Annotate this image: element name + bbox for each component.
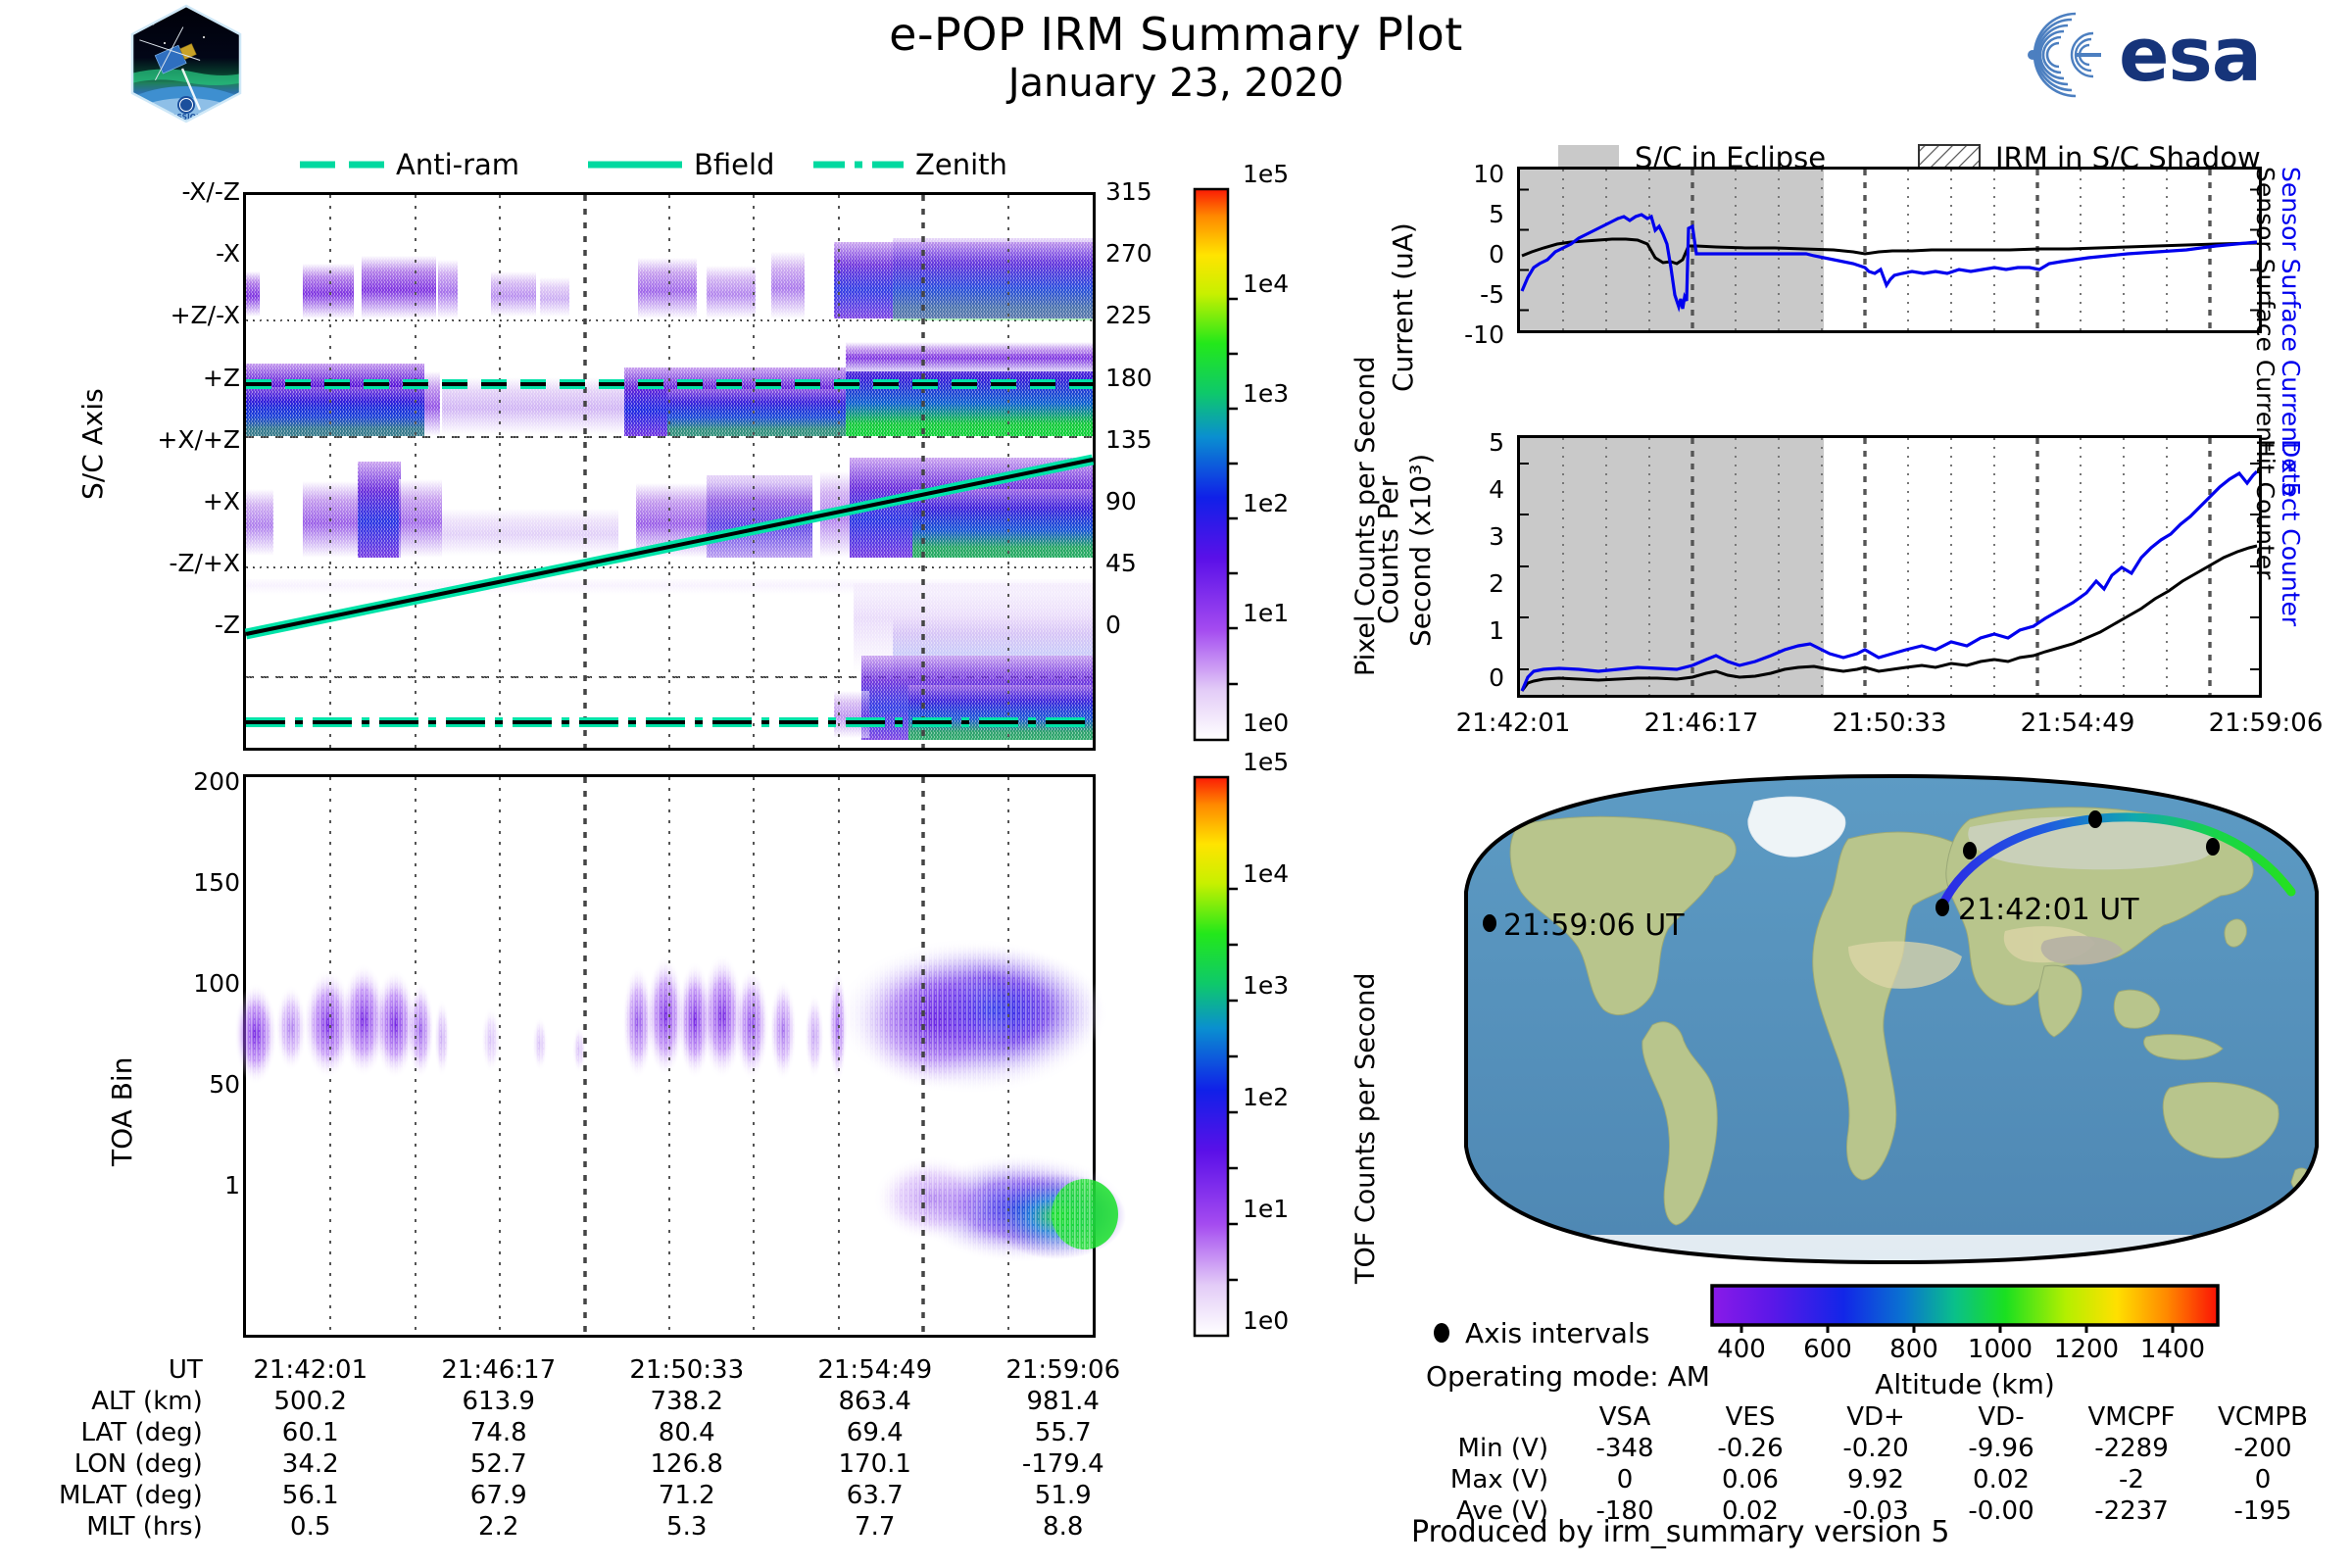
cell: 863.4 <box>781 1386 969 1417</box>
counts-ytick: 2 <box>1489 569 1504 598</box>
cell: 80.4 <box>593 1417 781 1448</box>
cell: 0 <box>2199 1464 2327 1495</box>
angle-ytick: +X <box>203 487 240 515</box>
alt-tick: 1000 <box>1968 1335 2033 1364</box>
table-header-row: VSA VES VD+ VD- VMCPF VCMPB <box>1411 1401 2327 1433</box>
altitude-colorbar-ticks: 400 600 800 1000 1200 1400 <box>1710 1335 2220 1368</box>
cell: -0.20 <box>1813 1433 1938 1464</box>
cb1-tick: 1e2 <box>1243 489 1289 517</box>
panel-toa-ticks: 200 150 100 50 1 <box>108 782 240 1287</box>
current-ytick: 10 <box>1473 160 1504 188</box>
cell: 56.1 <box>217 1480 405 1511</box>
column-header: VD+ <box>1813 1401 1938 1433</box>
panel-angle-left-ticks: -X/-Z -X +Z/-X +Z +X/+Z +X -Z/+X -Z <box>98 192 240 688</box>
row-label: LAT (deg) <box>59 1417 217 1448</box>
cell: 21:50:33 <box>593 1354 781 1386</box>
xtick: 21:50:33 <box>1795 708 1984 739</box>
angle-legend: Anti-ram Bfield Zenith <box>294 145 1000 184</box>
orbit-start-label: 21:42:01 UT <box>1958 893 2139 927</box>
cb2-tick: 1e2 <box>1243 1083 1289 1111</box>
panel-current-plot <box>1517 167 2262 333</box>
cell: 21:46:17 <box>405 1354 593 1386</box>
alt-tick: 1200 <box>2054 1335 2119 1364</box>
cb1-tick: 1e0 <box>1243 709 1289 737</box>
toa-ytick: 1 <box>224 1171 240 1200</box>
orbit-world-map: 21:42:01 UT 21:59:06 UT <box>1460 774 2323 1264</box>
tof-counts-colorbar-label: TOF Counts per Second <box>1350 973 1381 1285</box>
angle-ytick: +Z <box>203 364 240 392</box>
xtick: 21:42:01 <box>1419 708 1607 739</box>
cell: -0.00 <box>1938 1495 2064 1527</box>
angle-right-ytick: 0 <box>1105 611 1121 639</box>
cell: 5.3 <box>593 1511 781 1543</box>
legend-label-zenith: Zenith <box>915 148 1007 181</box>
cell: -2 <box>2064 1464 2199 1495</box>
angle-right-ytick: 135 <box>1105 425 1152 454</box>
panel-counts-yticks: 5 4 3 2 1 0 <box>1411 443 1504 725</box>
current-ytick: 0 <box>1489 240 1504 269</box>
cb2-tick: 1e3 <box>1243 971 1289 1000</box>
cell: 69.4 <box>781 1417 969 1448</box>
operating-mode-label: Operating mode: AM <box>1426 1360 1710 1393</box>
column-header: VD- <box>1938 1401 2064 1433</box>
cell: 21:54:49 <box>781 1354 969 1386</box>
counts-ytick: 0 <box>1489 663 1504 692</box>
cell: -348 <box>1562 1433 1688 1464</box>
cell: -0.26 <box>1688 1433 1813 1464</box>
page-subtitle-date: January 23, 2020 <box>588 61 1764 106</box>
toa-ytick: 150 <box>193 868 240 897</box>
cb2-tick: 1e5 <box>1243 748 1289 776</box>
cell: 34.2 <box>217 1448 405 1480</box>
cell: 67.9 <box>405 1480 593 1511</box>
pixel-counts-colorbar <box>1192 186 1250 745</box>
cell: -179.4 <box>969 1448 1157 1480</box>
cell: 60.1 <box>217 1417 405 1448</box>
row-label: Min (V) <box>1411 1433 1562 1464</box>
angle-right-ytick: 225 <box>1105 301 1152 329</box>
cell: 52.7 <box>405 1448 593 1480</box>
counts-ytick: 3 <box>1489 522 1504 551</box>
cell: 0.02 <box>1938 1464 2064 1495</box>
angle-ytick: -Z/+X <box>169 549 240 577</box>
cell: -2237 <box>2064 1495 2199 1527</box>
alt-tick: 800 <box>1889 1335 1938 1364</box>
xtick: 21:46:17 <box>1607 708 1795 739</box>
legend-label-antiram: Anti-ram <box>396 148 519 181</box>
row-label: ALT (km) <box>59 1386 217 1417</box>
panel-counts-right-label-black: Hit Counter <box>2251 439 2279 579</box>
alt-tick: 1400 <box>2140 1335 2205 1364</box>
legend-label-bfield: Bfield <box>694 148 774 181</box>
alt-tick: 400 <box>1717 1335 1766 1364</box>
ephemeris-table: UT 21:42:01 21:46:17 21:50:33 21:54:49 2… <box>59 1354 1157 1543</box>
panel-counts-plot <box>1517 435 2262 698</box>
table-row: UT 21:42:01 21:46:17 21:50:33 21:54:49 2… <box>59 1354 1157 1386</box>
header-title: e-POP IRM Summary Plot January 23, 2020 <box>588 8 1764 106</box>
cell: 51.9 <box>969 1480 1157 1511</box>
angle-right-ytick: 180 <box>1105 364 1152 392</box>
angle-ytick: -X <box>216 239 240 268</box>
table-row: MLT (hrs) 0.5 2.2 5.3 7.7 8.8 <box>59 1511 1157 1543</box>
angle-right-ytick: 270 <box>1105 239 1152 268</box>
column-header: VSA <box>1562 1401 1688 1433</box>
svg-text:esa: esa <box>2119 11 2261 98</box>
row-label: MLT (hrs) <box>59 1511 217 1543</box>
angle-right-ytick: 90 <box>1105 487 1137 515</box>
cell: 170.1 <box>781 1448 969 1480</box>
angle-ytick: -Z <box>215 611 240 639</box>
cell: 0 <box>1562 1464 1688 1495</box>
angle-right-ytick: 315 <box>1105 177 1152 206</box>
cell: 738.2 <box>593 1386 781 1417</box>
altitude-colorbar-label: Altitude (km) <box>1710 1368 2220 1400</box>
altitude-colorbar <box>1710 1284 2220 1331</box>
xtick: 21:54:49 <box>1984 708 2172 739</box>
counts-ytick: 4 <box>1489 475 1504 504</box>
table-row: ALT (km) 500.2 613.9 738.2 863.4 981.4 <box>59 1386 1157 1417</box>
current-ytick: -10 <box>1464 320 1504 349</box>
panel-current-yticks: 10 5 0 -5 -10 <box>1411 174 1504 375</box>
row-label: MLAT (deg) <box>59 1480 217 1511</box>
eclipse-shading <box>1520 438 1824 695</box>
toa-ytick: 100 <box>193 969 240 998</box>
cell: 981.4 <box>969 1386 1157 1417</box>
cell: 21:59:06 <box>969 1354 1157 1386</box>
panel-angle-spectrogram <box>243 192 1096 751</box>
pixel-counts-colorbar-ticks: 1e5 1e4 1e3 1e2 1e1 1e0 <box>1243 174 1350 833</box>
cassiope-logo: CASSIOPE <box>127 4 245 123</box>
table-row: LAT (deg) 60.1 74.8 80.4 69.4 55.7 <box>59 1417 1157 1448</box>
footer-produced-by: Produced by irm_summary version 5 <box>1411 1515 1949 1549</box>
toa-ytick: 50 <box>209 1070 240 1099</box>
cb1-tick: 1e5 <box>1243 160 1289 188</box>
counts-ylabel-line1: Counts Per <box>1372 476 1404 624</box>
voltage-stats-table: VSA VES VD+ VD- VMCPF VCMPB Min (V) -348… <box>1411 1401 2327 1527</box>
cb2-tick: 1e4 <box>1243 859 1289 888</box>
table-row: MLAT (deg) 56.1 67.9 71.2 63.7 51.9 <box>59 1480 1157 1511</box>
row-label: LON (deg) <box>59 1448 217 1480</box>
column-header: VES <box>1688 1401 1813 1433</box>
table-row: LON (deg) 34.2 52.7 126.8 170.1 -179.4 <box>59 1448 1157 1480</box>
cell: 74.8 <box>405 1417 593 1448</box>
map-marker-legend: Axis intervals <box>1426 1313 1681 1352</box>
cb1-tick: 1e3 <box>1243 379 1289 408</box>
cb2-tick: 1e0 <box>1243 1306 1289 1335</box>
table-row: Min (V) -348 -0.26 -0.20 -9.96 -2289 -20… <box>1411 1433 2327 1464</box>
cell: -195 <box>2199 1495 2327 1527</box>
cell: 0.5 <box>217 1511 405 1543</box>
cell: 71.2 <box>593 1480 781 1511</box>
cell: 500.2 <box>217 1386 405 1417</box>
cb2-tick: 1e1 <box>1243 1195 1289 1223</box>
cell: 63.7 <box>781 1480 969 1511</box>
row-label: Max (V) <box>1411 1464 1562 1495</box>
cell: -9.96 <box>1938 1433 2064 1464</box>
counts-ytick: 1 <box>1489 616 1504 645</box>
tof-counts-colorbar-ticks: 1e5 1e4 1e3 1e2 1e1 1e0 <box>1243 762 1350 1433</box>
column-header: VMCPF <box>2064 1401 2199 1433</box>
current-ytick: -5 <box>1480 280 1504 309</box>
cell: 0.06 <box>1688 1464 1813 1495</box>
cb1-tick: 1e1 <box>1243 599 1289 627</box>
cell: 7.7 <box>781 1511 969 1543</box>
cell: -2289 <box>2064 1433 2199 1464</box>
table-row: Max (V) 0 0.06 9.92 0.02 -2 0 <box>1411 1464 2327 1495</box>
xtick-row: 21:42:01 21:46:17 21:50:33 21:54:49 21:5… <box>1419 708 2352 739</box>
alt-tick: 600 <box>1803 1335 1852 1364</box>
axis-intervals-label: Axis intervals <box>1465 1317 1649 1349</box>
angle-ytick: +Z/-X <box>171 301 240 329</box>
angle-ytick: -X/-Z <box>182 177 240 206</box>
cell: 9.92 <box>1813 1464 1938 1495</box>
row-label: UT <box>59 1354 217 1386</box>
panel-angle-right-ticks: 315 270 225 180 135 90 45 0 <box>1105 192 1194 688</box>
orbit-end-label: 21:59:06 UT <box>1503 908 1685 943</box>
current-ytick: 5 <box>1489 200 1504 228</box>
page-title: e-POP IRM Summary Plot <box>588 8 1764 61</box>
angle-right-ytick: 45 <box>1105 549 1137 577</box>
column-header: VCMPB <box>2199 1401 2327 1433</box>
cell: -200 <box>2199 1433 2327 1464</box>
axis-interval-dot-icon <box>1434 1323 1449 1343</box>
panel-counts-right-label-blue: Detect Counter <box>2277 439 2305 626</box>
cell: 55.7 <box>969 1417 1157 1448</box>
angle-ytick: +X/+Z <box>157 425 240 454</box>
toa-ytick: 200 <box>193 767 240 796</box>
tof-counts-colorbar <box>1192 774 1250 1341</box>
panel-toa-spectrogram <box>243 774 1096 1338</box>
cell: 126.8 <box>593 1448 781 1480</box>
cb1-tick: 1e4 <box>1243 269 1289 298</box>
xtick: 21:59:06 <box>2172 708 2352 739</box>
counts-ytick: 5 <box>1489 428 1504 457</box>
cell: 2.2 <box>405 1511 593 1543</box>
cell: 8.8 <box>969 1511 1157 1543</box>
panel-current-right-label-black: Sensor Surface Current <box>2251 167 2279 452</box>
panel-counts-xticks: 21:42:01 21:46:17 21:50:33 21:54:49 21:5… <box>1419 708 2352 739</box>
cell: 21:42:01 <box>217 1354 405 1386</box>
esa-logo: esa <box>1999 6 2283 104</box>
cell: 613.9 <box>405 1386 593 1417</box>
